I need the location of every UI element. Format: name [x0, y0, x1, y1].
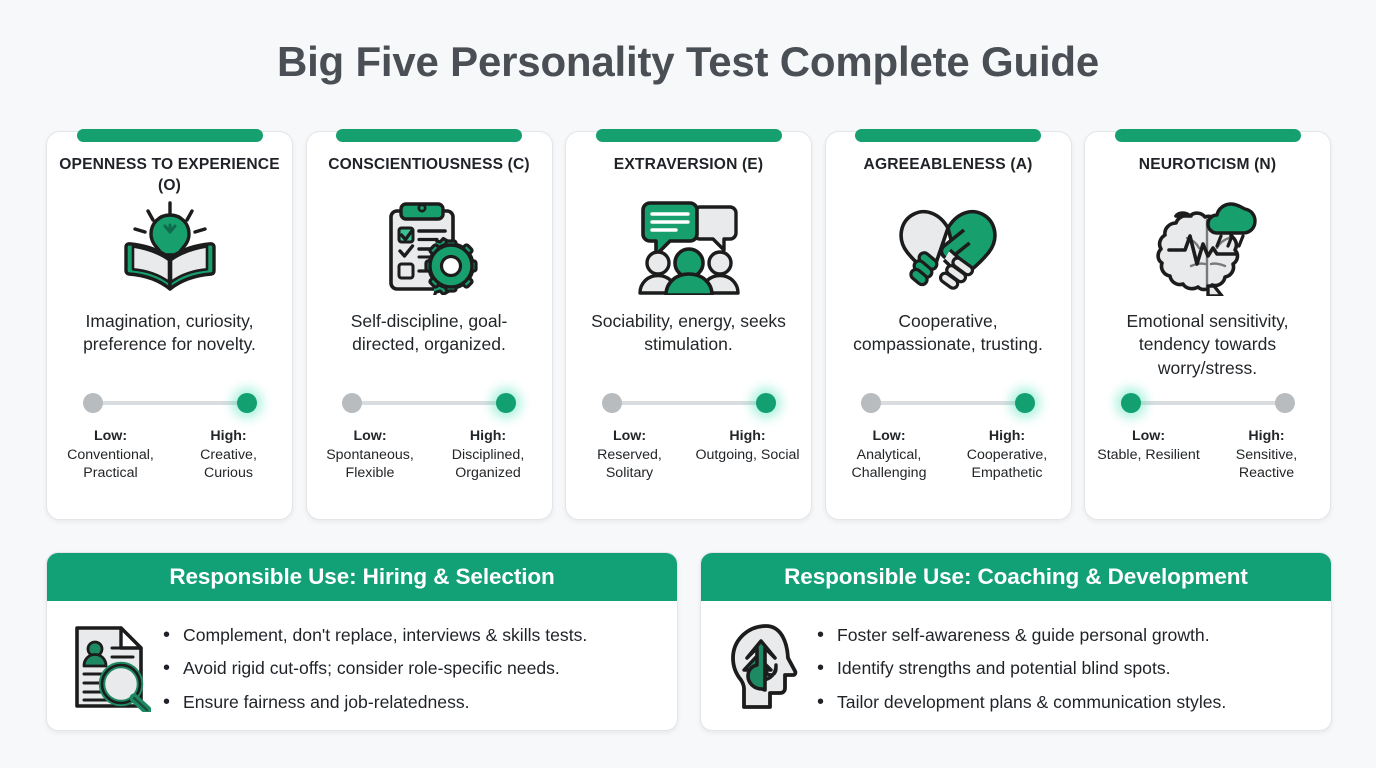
slider-labels: Low: Conventional, Practical High: Creat… [57, 427, 283, 483]
trait-description: Self-discipline, goal-directed, organize… [323, 310, 535, 388]
slider-track [352, 401, 506, 405]
slider-dot-low[interactable] [861, 393, 881, 413]
slider-label-high-head: High: [953, 427, 1061, 446]
slider-label-high-text: Cooperative, Empathetic [967, 447, 1047, 482]
brain-storm-icon [1155, 200, 1261, 296]
trait-description: Sociability, energy, seeks stimulation. [583, 310, 795, 388]
slider-labels: Low: Reserved, Solitary High: Outgoing, … [576, 427, 802, 483]
trait-slider[interactable] [602, 390, 776, 416]
slider-label-low-text: Analytical, Challenging [852, 447, 927, 482]
speech-people-icon [638, 200, 740, 296]
list-item: Foster self-awareness & guide personal g… [817, 627, 1226, 645]
slider-label-high-text: Creative, Curious [200, 447, 257, 482]
slider-label-high-text: Outgoing, Social [695, 447, 799, 463]
trait-title: NEUROTICISM (N) [1139, 154, 1276, 204]
lightbulb-book-icon [118, 200, 222, 296]
panel-bullet-list: Complement, don't replace, interviews & … [163, 618, 587, 716]
slider-dot-high[interactable] [496, 393, 516, 413]
slider-dot-high[interactable] [756, 393, 776, 413]
slider-track [93, 401, 247, 405]
trait-slider[interactable] [342, 390, 516, 416]
slider-label-high: High: Sensitive, Reactive [1213, 427, 1321, 483]
slider-dot-high[interactable] [1015, 393, 1035, 413]
trait-description: Emotional sensitivity, tendency towards … [1102, 310, 1314, 388]
slider-dot-high[interactable] [1275, 393, 1295, 413]
page-title: Big Five Personality Test Complete Guide [0, 38, 1376, 86]
trait-card-conscientiousness[interactable]: CONSCIENTIOUSNESS (C) [306, 131, 553, 520]
trait-card-agreeableness[interactable]: AGREEABLENESS (A) [825, 131, 1072, 520]
head-growth-arrow-icon [719, 623, 811, 711]
slider-track [871, 401, 1025, 405]
slider-label-low: Low: Spontaneous, Flexible [316, 427, 424, 483]
slider-label-low-text: Spontaneous, Flexible [326, 447, 414, 482]
card-accent-bar [77, 129, 263, 142]
panel-coaching-development: Responsible Use: Coaching & Development … [700, 552, 1332, 731]
trait-cards-row: OPENNESS TO EXPERIENCE (O) [46, 131, 1331, 520]
trait-card-neuroticism[interactable]: NEUROTICISM (N) Emotional sensitivity, t… [1084, 131, 1331, 520]
card-accent-bar [596, 129, 782, 142]
handshake-heart-icon [896, 200, 1000, 296]
slider-dot-low[interactable] [602, 393, 622, 413]
slider-label-low: Low: Stable, Resilient [1095, 427, 1203, 483]
clipboard-gear-icon [379, 200, 479, 296]
list-item: Tailor development plans & communication… [817, 694, 1226, 712]
slider-label-low: Low: Reserved, Solitary [576, 427, 684, 483]
slider-dot-high[interactable] [237, 393, 257, 413]
slider-label-high-text: Sensitive, Reactive [1236, 447, 1298, 482]
card-accent-bar [336, 129, 522, 142]
trait-title: OPENNESS TO EXPERIENCE (O) [57, 154, 282, 204]
panel-bullet-list: Foster self-awareness & guide personal g… [817, 618, 1226, 716]
card-accent-bar [855, 129, 1041, 142]
slider-dot-low[interactable] [342, 393, 362, 413]
slider-label-low: Low: Conventional, Practical [57, 427, 165, 483]
slider-label-low-head: Low: [1095, 427, 1203, 446]
list-item: Avoid rigid cut-offs; consider role-spec… [163, 660, 587, 678]
slider-label-high: High: Cooperative, Empathetic [953, 427, 1061, 483]
trait-title: AGREEABLENESS (A) [864, 154, 1033, 204]
list-item: Ensure fairness and job-relatedness. [163, 694, 587, 712]
slider-label-high: High: Creative, Curious [175, 427, 283, 483]
trait-card-extraversion[interactable]: EXTRAVERSION (E) [565, 131, 812, 520]
slider-labels: Low: Analytical, Challenging High: Coope… [835, 427, 1061, 483]
slider-label-high: High: Outgoing, Social [694, 427, 802, 483]
slider-label-low-head: Low: [576, 427, 684, 446]
slider-label-low-head: Low: [316, 427, 424, 446]
slider-label-low: Low: Analytical, Challenging [835, 427, 943, 483]
slider-label-high: High: Disciplined, Organized [434, 427, 542, 483]
list-item: Identify strengths and potential blind s… [817, 660, 1226, 678]
panel-body: Foster self-awareness & guide personal g… [701, 601, 1331, 731]
trait-title: EXTRAVERSION (E) [614, 154, 763, 204]
slider-label-low-text: Stable, Resilient [1097, 447, 1200, 463]
slider-label-low-head: Low: [835, 427, 943, 446]
slider-label-high-head: High: [434, 427, 542, 446]
panel-header: Responsible Use: Coaching & Development [701, 553, 1331, 601]
slider-track [612, 401, 766, 405]
slider-dot-low[interactable] [83, 393, 103, 413]
trait-slider[interactable] [861, 390, 1035, 416]
slider-label-low-head: Low: [57, 427, 165, 446]
slider-label-high-head: High: [1213, 427, 1321, 446]
slider-dot-low[interactable] [1121, 393, 1141, 413]
infographic-page: Big Five Personality Test Complete Guide… [0, 0, 1376, 768]
slider-labels: Low: Stable, Resilient High: Sensitive, … [1095, 427, 1321, 483]
trait-title: CONSCIENTIOUSNESS (C) [328, 154, 530, 204]
panel-hiring-selection: Responsible Use: Hiring & Selection [46, 552, 678, 731]
panel-header: Responsible Use: Hiring & Selection [47, 553, 677, 601]
list-item: Complement, don't replace, interviews & … [163, 627, 587, 645]
trait-description: Cooperative, compassionate, trusting. [842, 310, 1054, 388]
trait-slider[interactable] [83, 390, 257, 416]
slider-label-low-text: Conventional, Practical [67, 447, 154, 482]
slider-track [1131, 401, 1285, 405]
trait-card-openness[interactable]: OPENNESS TO EXPERIENCE (O) [46, 131, 293, 520]
trait-slider[interactable] [1121, 390, 1295, 416]
panel-body: Complement, don't replace, interviews & … [47, 601, 677, 731]
slider-label-high-head: High: [694, 427, 802, 446]
trait-description: Imagination, curiosity, preference for n… [64, 310, 276, 388]
slider-label-high-text: Disciplined, Organized [452, 447, 525, 482]
slider-label-high-head: High: [175, 427, 283, 446]
card-accent-bar [1115, 129, 1301, 142]
slider-label-low-text: Reserved, Solitary [597, 447, 662, 482]
resume-magnifier-icon [65, 622, 157, 712]
slider-labels: Low: Spontaneous, Flexible High: Discipl… [316, 427, 542, 483]
